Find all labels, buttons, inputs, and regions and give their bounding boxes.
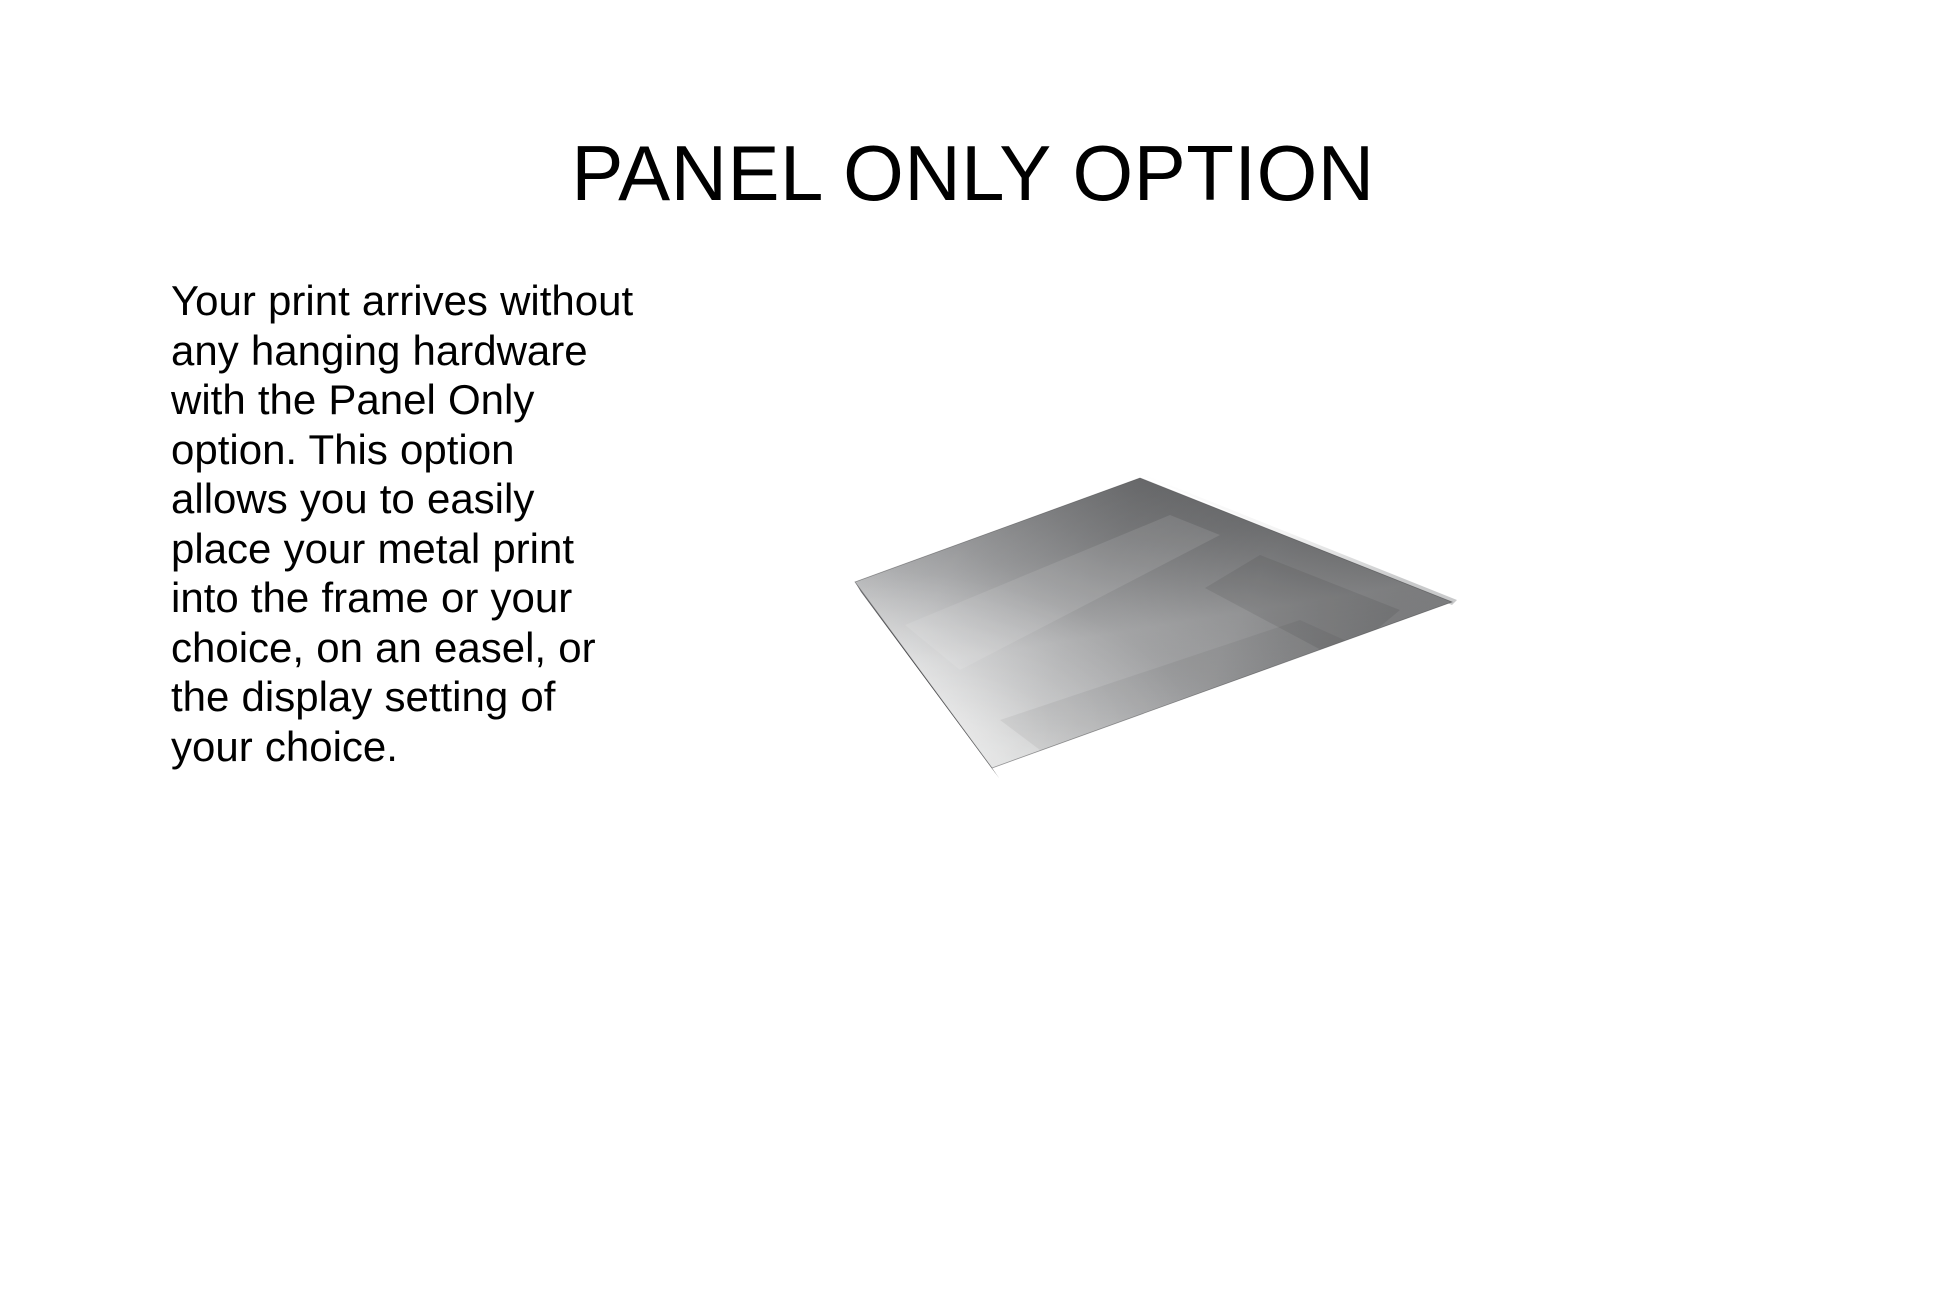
body-paragraph: Your print arrives without any hanging h…: [171, 276, 641, 771]
page-title: PANEL ONLY OPTION: [0, 134, 1946, 212]
panel-face: [700, 420, 1520, 840]
metal-panel-figure: [700, 420, 1520, 840]
slide-canvas: PANEL ONLY OPTION Your print arrives wit…: [0, 0, 1946, 1297]
